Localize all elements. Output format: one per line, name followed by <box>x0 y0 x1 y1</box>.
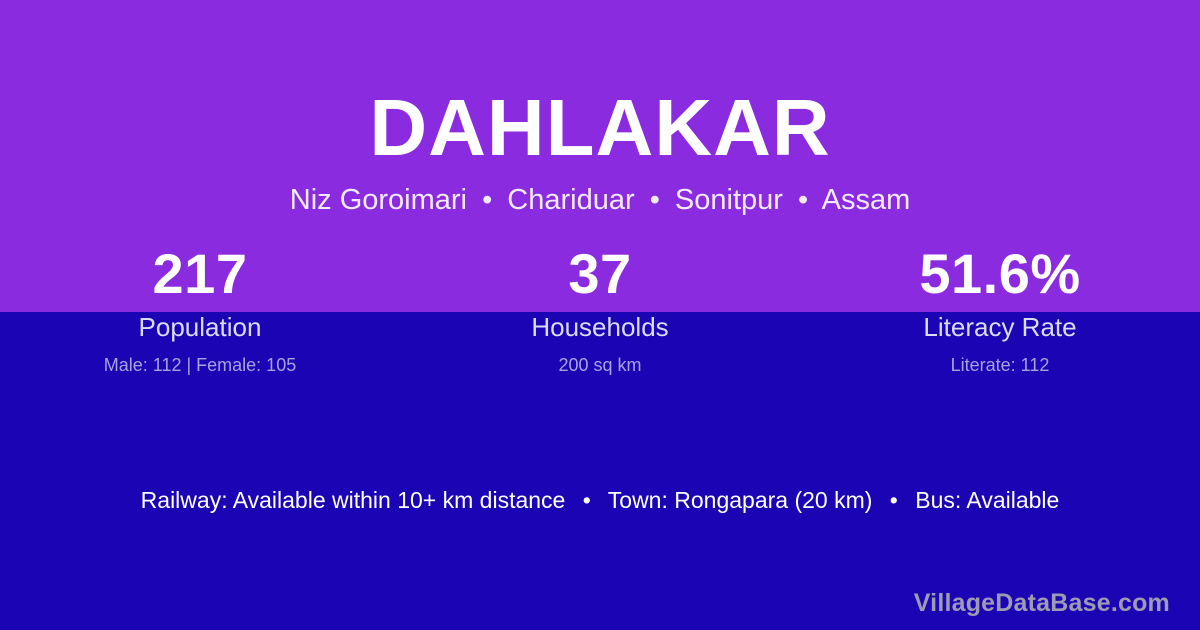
site-watermark: VillageDataBase.com <box>914 588 1170 618</box>
breadcrumb-separator: • <box>475 184 499 216</box>
stat-value: 51.6% <box>800 243 1200 305</box>
stat-literacy-rate: 51.6% Literacy Rate Literate: 112 <box>800 243 1200 377</box>
amenities-bar: Railway: Available within 10+ km distanc… <box>0 484 1200 516</box>
breadcrumb: Niz Goroimari • Chariduar • Sonitpur • A… <box>0 182 1200 218</box>
stats-row: 217 Population Male: 112 | Female: 105 3… <box>0 243 1200 377</box>
stat-households: 37 Households 200 sq km <box>400 243 800 377</box>
stat-subtext: Literate: 112 <box>800 353 1200 377</box>
stat-label: Households <box>400 311 800 343</box>
amenity-town: Town: Rongapara (20 km) <box>608 487 873 513</box>
amenity-railway: Railway: Available within 10+ km distanc… <box>141 487 566 513</box>
stat-label: Population <box>0 311 400 343</box>
breadcrumb-part-state: Assam <box>822 184 911 216</box>
page-title: DAHLAKAR <box>0 82 1200 174</box>
stat-population: 217 Population Male: 112 | Female: 105 <box>0 243 400 377</box>
breadcrumb-part-block: Chariduar <box>507 184 634 216</box>
stat-value: 37 <box>400 243 800 305</box>
stat-subtext: 200 sq km <box>400 353 800 377</box>
breadcrumb-part-district: Sonitpur <box>675 184 783 216</box>
stat-subtext: Male: 112 | Female: 105 <box>0 353 400 377</box>
breadcrumb-part-village: Niz Goroimari <box>290 184 467 216</box>
stat-value: 217 <box>0 243 400 305</box>
amenity-bus: Bus: Available <box>915 487 1059 513</box>
breadcrumb-separator: • <box>791 184 815 216</box>
stat-label: Literacy Rate <box>800 311 1200 343</box>
breadcrumb-separator: • <box>643 184 667 216</box>
amenity-separator: • <box>879 487 909 513</box>
village-data-card: DAHLAKAR Niz Goroimari • Chariduar • Son… <box>0 0 1200 630</box>
amenity-separator: • <box>572 487 602 513</box>
